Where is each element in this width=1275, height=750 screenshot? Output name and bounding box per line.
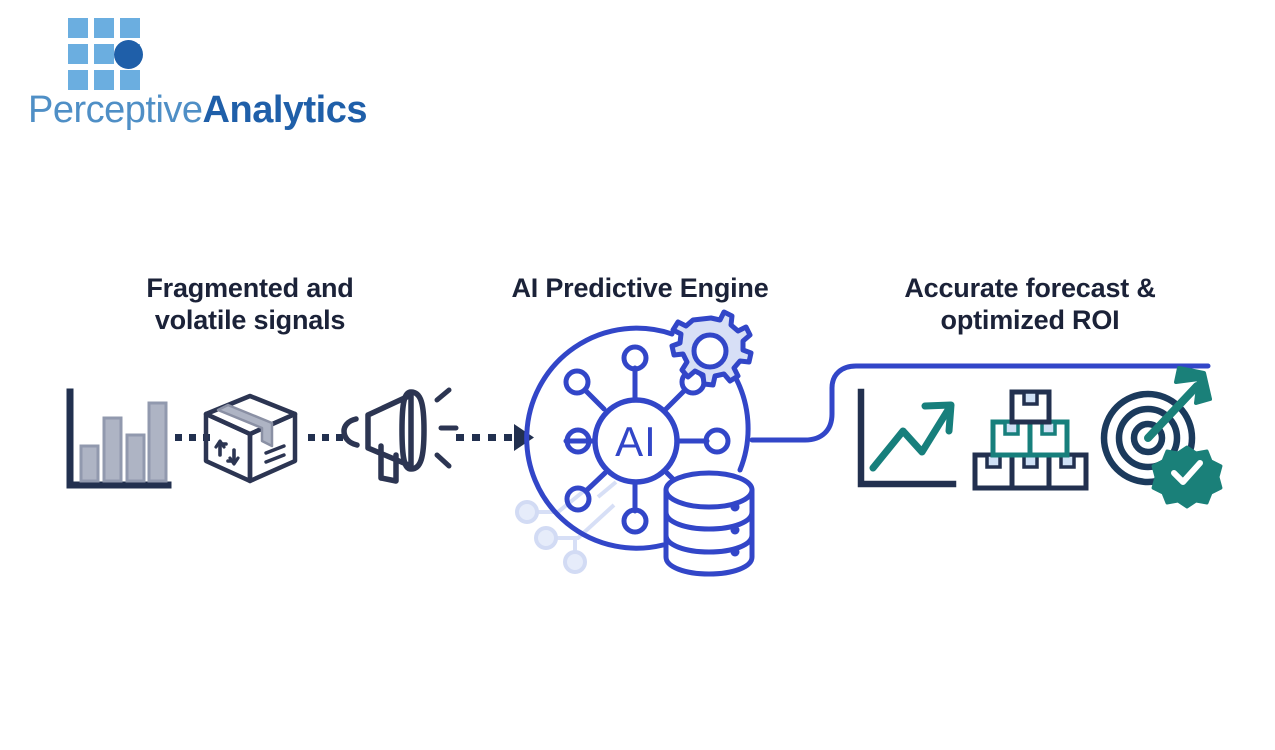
logo-square	[94, 70, 114, 90]
box-stack-icon	[975, 392, 1086, 488]
connector-curve	[752, 366, 1208, 440]
engine-circle	[527, 328, 748, 548]
logo-square	[94, 18, 114, 38]
logo-square	[68, 18, 88, 38]
stage-label-line: Accurate forecast &	[885, 272, 1175, 304]
connector-dots-1	[175, 434, 210, 441]
logo-square	[68, 44, 88, 64]
database-icon	[666, 473, 752, 574]
target-arrow-icon	[1104, 368, 1210, 482]
ai-hub-icon	[566, 347, 728, 532]
growth-chart-icon	[861, 392, 953, 484]
logo-circle-dot	[114, 40, 143, 69]
logo-grid-mark	[68, 18, 140, 90]
bar-chart-icon	[70, 392, 168, 485]
stage-label-line: Fragmented and	[110, 272, 390, 304]
stage-label-engine: AI Predictive Engine	[495, 272, 785, 304]
logo-square	[120, 18, 140, 38]
logo-wordmark-bold: Analytics	[203, 89, 367, 131]
gear-icon	[672, 312, 751, 385]
logo-square	[68, 70, 88, 90]
logo-wordmark-light: Perceptive	[28, 89, 203, 131]
ai-core-label: AI	[615, 418, 657, 465]
stage-label-inputs: Fragmented and volatile signals	[110, 272, 390, 336]
stage-label-line: AI Predictive Engine	[495, 272, 785, 304]
logo-wordmark: PerceptiveAnalytics	[28, 88, 367, 132]
connector-dots-2	[308, 434, 343, 441]
megaphone-icon	[344, 390, 456, 481]
stage-label-line: volatile signals	[110, 304, 390, 336]
verified-badge-icon	[1153, 447, 1221, 507]
network-nodes-icon	[517, 478, 616, 572]
stage-label-line: optimized ROI	[885, 304, 1175, 336]
shipping-box-icon	[206, 396, 295, 481]
logo-square	[94, 44, 114, 64]
logo-square	[120, 70, 140, 90]
stage-label-outputs: Accurate forecast & optimized ROI	[885, 272, 1175, 336]
connector-dotted-arrow	[456, 424, 534, 451]
brand-logo: PerceptiveAnalytics	[28, 14, 348, 124]
